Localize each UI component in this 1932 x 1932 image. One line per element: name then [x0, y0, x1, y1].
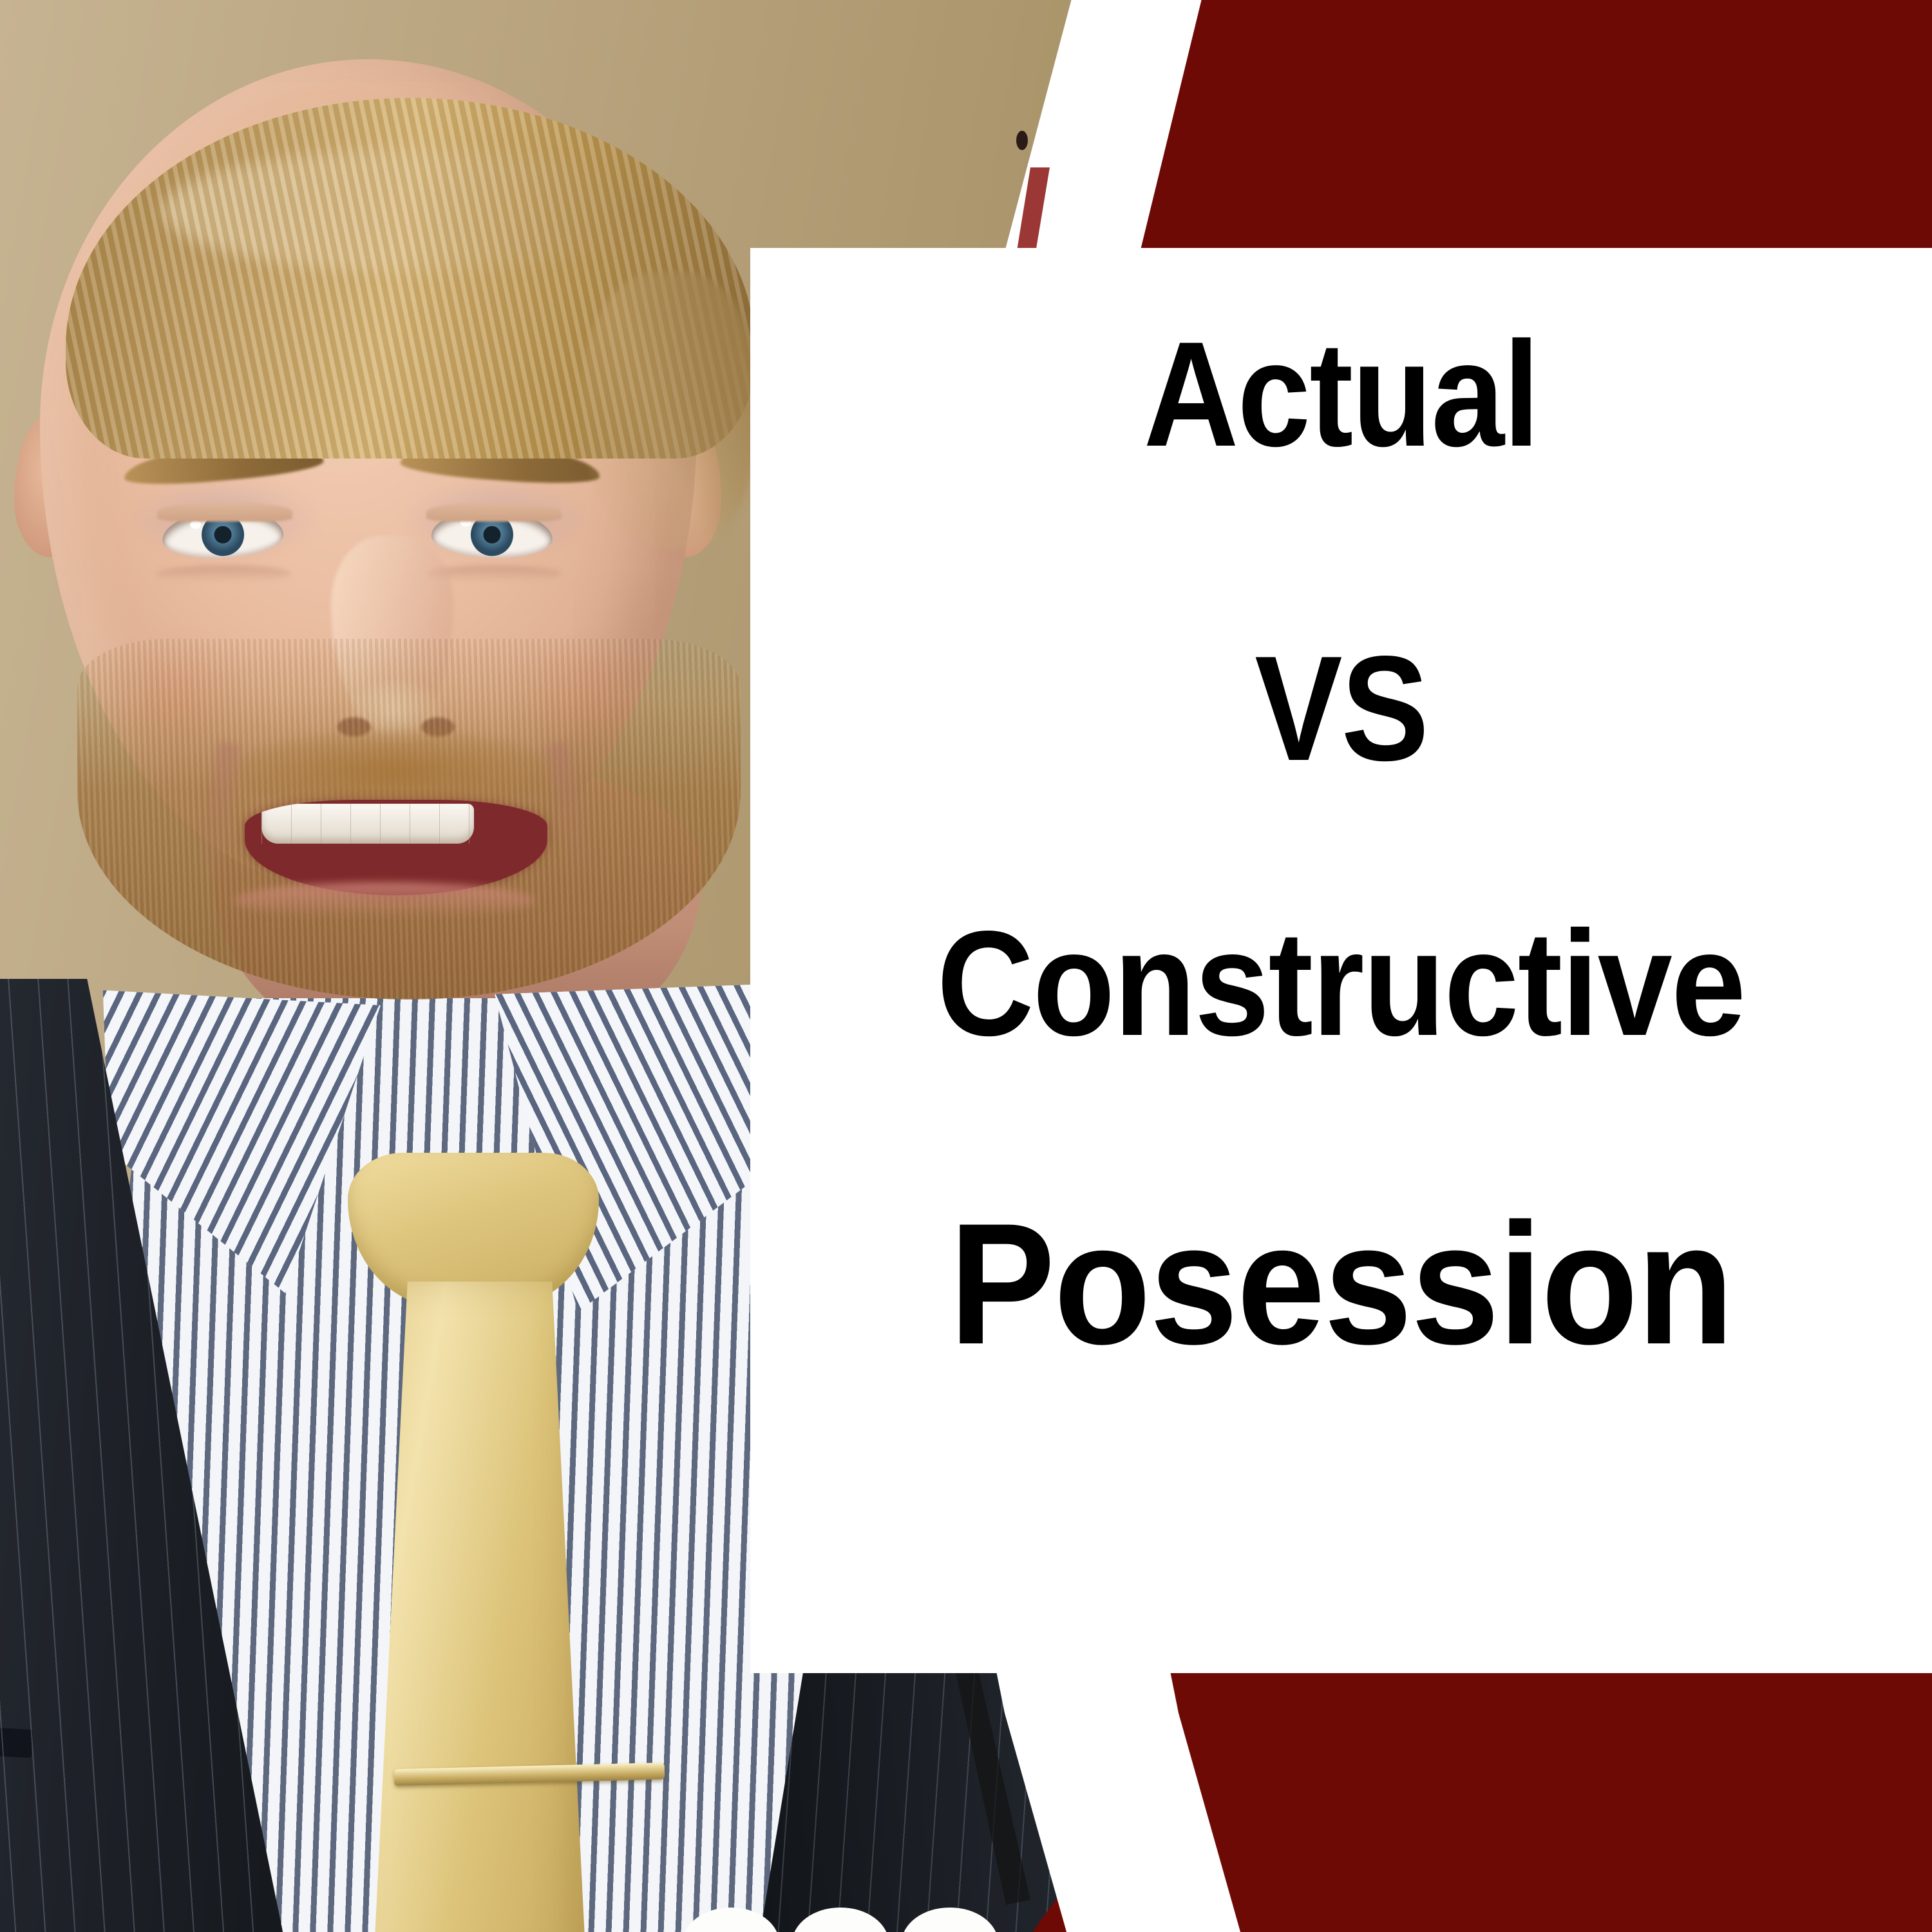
red-backdrop-bottom: [1133, 1671, 1932, 1932]
title-line-constructive: Constructive: [937, 913, 1745, 1055]
glyph-top-3: [902, 1908, 998, 1932]
title-text-block: Actual VS Constructive Posession: [750, 248, 1932, 1673]
title-line-posession: Posession: [949, 1202, 1733, 1366]
pupil-right: [483, 526, 501, 544]
title-line-vs: VS: [1255, 638, 1428, 780]
lower-lip: [233, 882, 536, 920]
necktie-gold: [374, 1282, 586, 1932]
teeth: [261, 804, 474, 844]
cropped-logo-glyphs: [670, 1902, 1030, 1932]
temple-fade: [581, 272, 755, 549]
jacket-pocket: [0, 1722, 33, 1757]
title-line-actual: Actual: [1144, 324, 1539, 466]
glyph-top-1: [683, 1908, 779, 1932]
title-card: Actual VS Constructive Posession: [750, 248, 1932, 1673]
glyph-top-2: [792, 1908, 889, 1932]
pupil-left: [214, 526, 232, 544]
eyelid-right: [426, 502, 562, 522]
face: [40, 59, 697, 890]
thumbnail-canvas: Actual VS Constructive Posession: [0, 0, 1932, 1932]
hair-part-highlight: [162, 149, 652, 272]
eyelid-left: [157, 502, 292, 522]
undereye-left: [156, 565, 291, 582]
